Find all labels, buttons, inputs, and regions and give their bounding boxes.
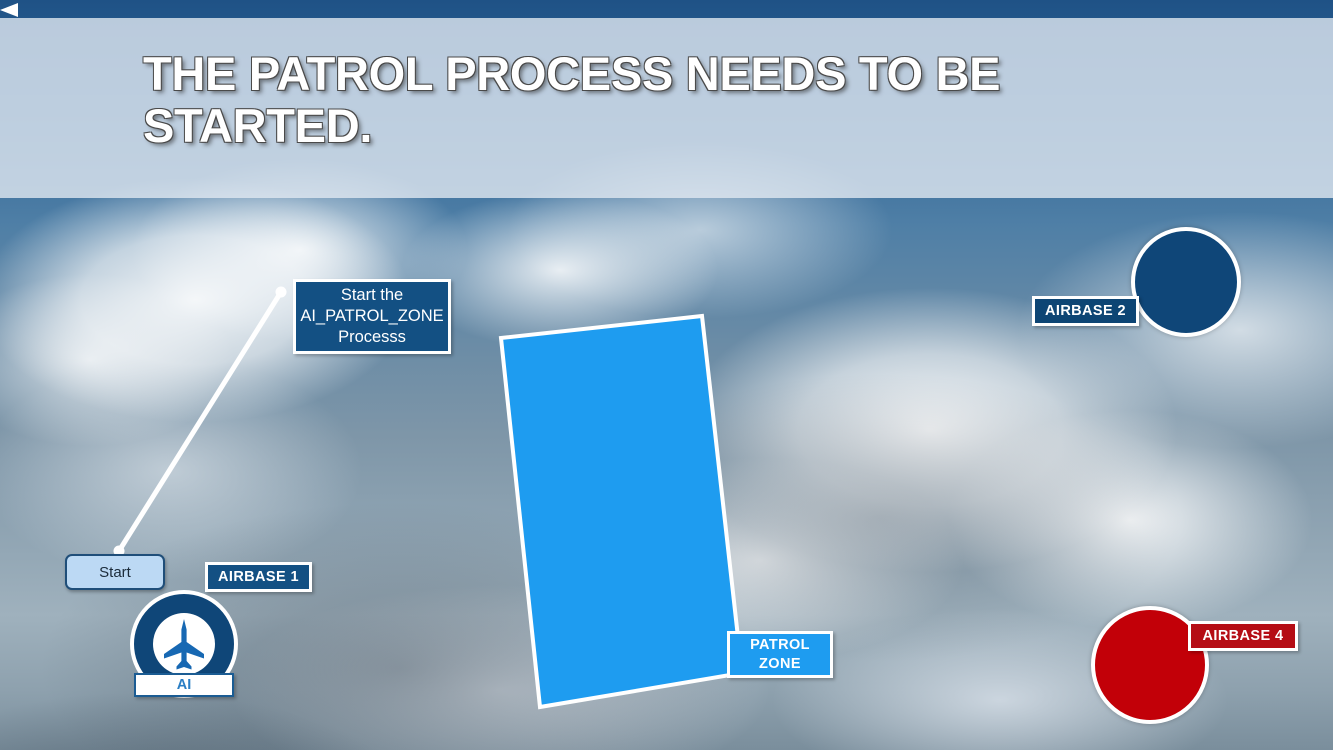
patrol-zone-label[interactable]: PATROL ZONE xyxy=(727,631,833,678)
airbase-4-label[interactable]: AIRBASE 4 xyxy=(1188,621,1298,651)
connector-endpoint-callout xyxy=(276,287,287,298)
airbase-2-marker[interactable] xyxy=(1131,227,1241,337)
airbase-1-label[interactable]: AIRBASE 1 xyxy=(205,562,312,592)
ai-unit-label[interactable]: AI xyxy=(134,673,234,697)
patrol-zone-label-line2: ZONE xyxy=(750,655,810,673)
start-process-callout[interactable]: Start the AI_PATROL_ZONE Processs xyxy=(293,279,451,354)
callout-line-2: AI_PATROL_ZONE xyxy=(300,306,443,327)
patrol-zone-polygon[interactable] xyxy=(501,316,742,707)
connector-line xyxy=(119,292,281,551)
page-title: THE PATROL PROCESS NEEDS TO BE STARTED. xyxy=(143,48,1203,151)
airbase-2-label[interactable]: AIRBASE 2 xyxy=(1032,296,1139,326)
patrol-zone-label-line1: PATROL xyxy=(750,636,810,654)
callout-line-3: Processs xyxy=(300,327,443,348)
airbase-4-connector xyxy=(0,3,18,17)
start-to-callout-connector xyxy=(100,275,310,575)
start-button[interactable]: Start xyxy=(65,554,165,590)
presentation-slide: THE PATROL PROCESS NEEDS TO BE STARTED. … xyxy=(0,0,1333,750)
callout-line-1: Start the xyxy=(300,285,443,306)
